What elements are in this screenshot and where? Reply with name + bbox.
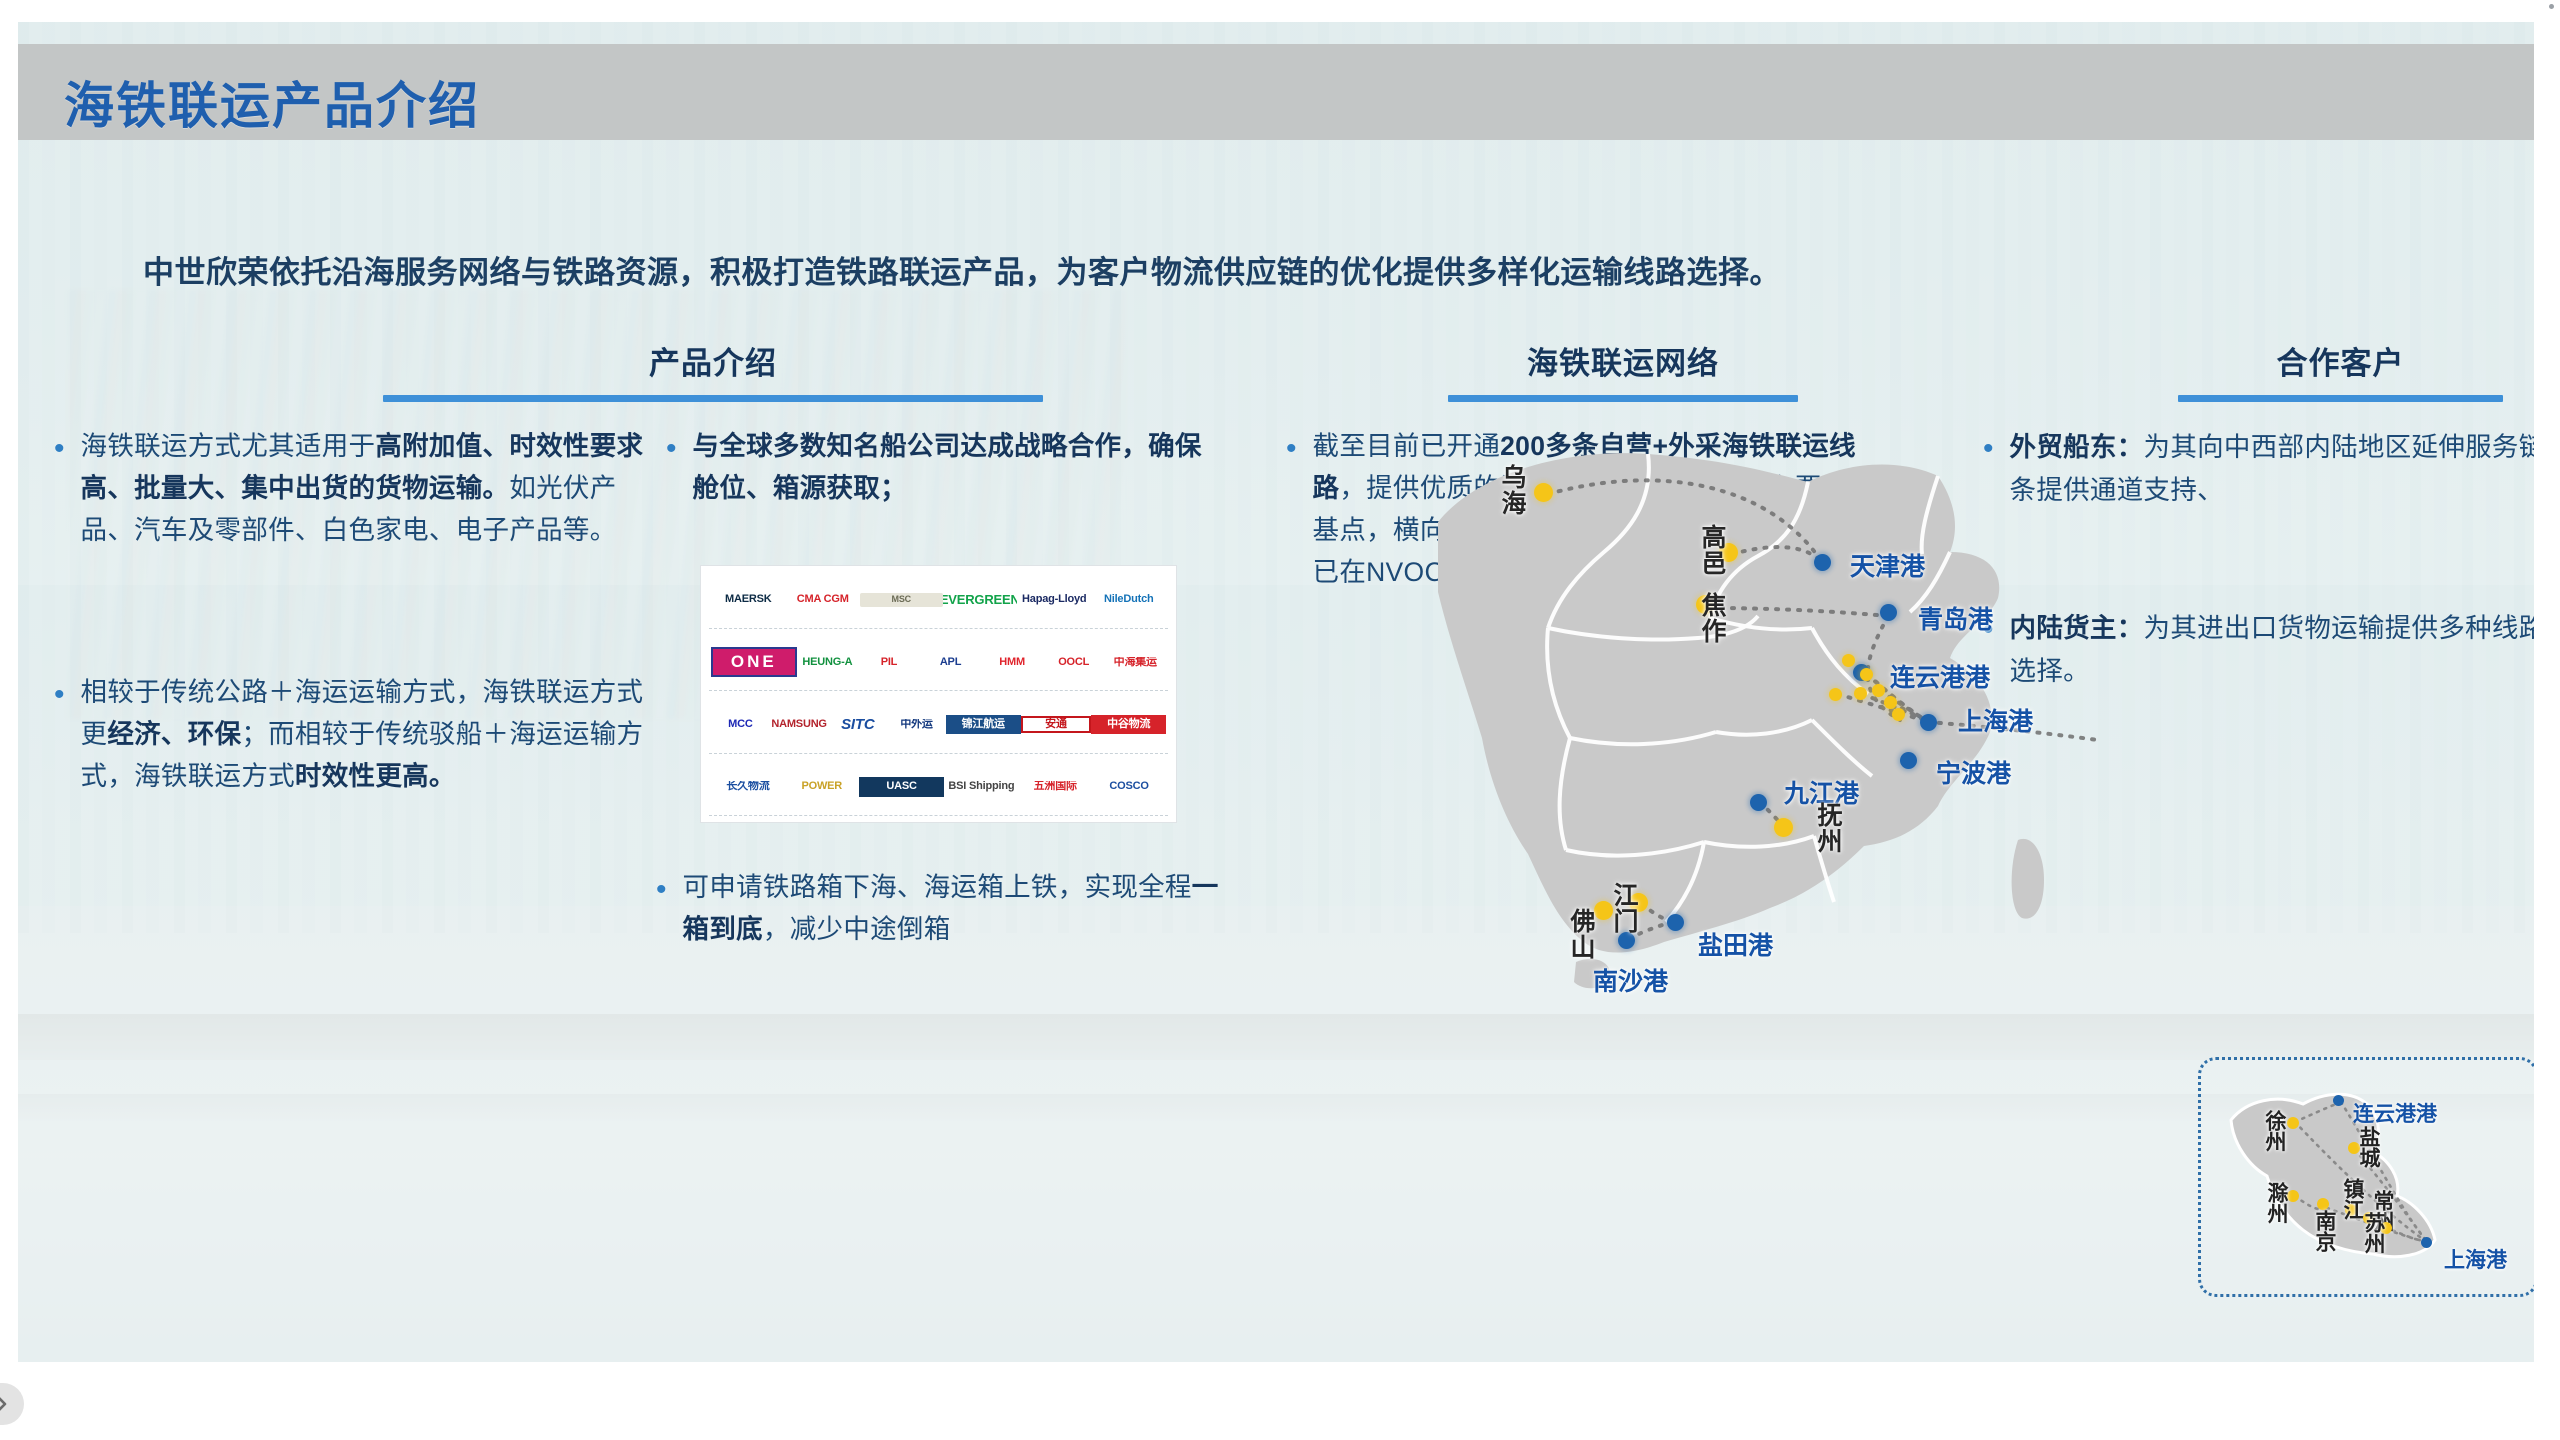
slide-viewer: 海铁联运产品介绍 中世欣荣依托沿海服务网络与铁路资源，积极打造铁路联运产品，为客… [0,0,2560,1440]
shipping-line-logo: 中外运 [887,719,946,731]
bullet-item: • 与全球多数知名船公司达成战略合作，确保舱位、箱源获取； [666,426,1226,510]
inset-inland-label: 滁州 [2261,1182,2291,1224]
map-inland-node[interactable] [1842,654,1855,667]
next-slide-button[interactable] [0,1383,24,1425]
map-inland-label: 乌海 [1494,464,1530,516]
map-inland-label: 焦作 [1694,592,1730,644]
map-inland-label: 高邑 [1694,524,1730,576]
logo-row: MAERSKCMA CGMMSCEVERGREENHapag-LloydNile… [709,572,1168,629]
bullet-item: • 海铁联运方式尤其适用于高附加值、时效性要求高、批量大、集中出货的货物运输。如… [54,426,644,552]
shipping-line-logo: NAMSUNG [770,719,829,731]
shipping-line-logo-grid: MAERSKCMA CGMMSCEVERGREENHapag-LloydNile… [700,565,1177,823]
shipping-line-logo: PIL [858,657,920,669]
shipping-line-logo: APL [920,657,982,669]
inset-inland-label: 盐城 [2353,1126,2383,1168]
map-port-label: 青岛港 [1918,600,1993,636]
map-port-node[interactable] [1618,932,1635,949]
section-heading-rule [1448,395,1798,402]
page-title: 海铁联运产品介绍 [64,66,480,138]
logo-row: MCCNAMSUNGSITC中外运锦江航运安通中谷物流 [709,697,1168,754]
slide-canvas: 海铁联运产品介绍 中世欣荣依托沿海服务网络与铁路资源，积极打造铁路联运产品，为客… [18,22,2534,1362]
shipping-line-logo: HEUNG-A [797,657,859,669]
map-port-node[interactable] [1880,604,1897,621]
bullet-dot-icon: • [666,426,677,510]
bullet-dot-icon: • [54,672,65,798]
inset-port-node[interactable] [2333,1095,2344,1106]
section-heading-label: 合作客户 [2178,338,2503,395]
bullet-item: • 可申请铁路箱下海、海运箱上铁，实现全程一箱到底，减少中途倒箱 [656,867,1226,951]
inset-inland-node[interactable] [2317,1198,2329,1210]
map-inland-node[interactable] [1872,684,1885,697]
section-heading-customers: 合作客户 [2178,338,2503,402]
shipping-line-logo: Hapag-Lloyd [1017,594,1092,606]
bullet-dot-icon: • [656,867,667,951]
inset-inland-label: 徐州 [2259,1110,2289,1152]
map-port-label: 南沙港 [1593,962,1668,998]
map-port-node[interactable] [1920,714,1937,731]
map-port-label: 上海港 [1958,702,2033,738]
shipping-line-logo: POWER [785,781,859,793]
section-heading-network: 海铁联运网络 [1448,338,1798,402]
map-inland-node[interactable] [1854,687,1867,700]
shipping-line-logo: OOCL [1043,657,1105,669]
map-inland-node[interactable] [1860,668,1873,681]
bullet-dot-icon: • [1286,426,1297,593]
shipping-line-logo: BSI Shipping [944,781,1018,793]
inset-port-label: 连云港港 [2353,1098,2437,1128]
map-port-label: 连云港港 [1890,658,1990,694]
map-inland-label: 抚州 [1810,802,1846,854]
inset-inland-label: 苏州 [2358,1212,2388,1254]
shipping-line-logo: 长久物流 [711,781,785,793]
shipping-line-logo: EVERGREEN [943,593,1018,607]
logo-row: ONEHEUNG-APILAPLHMMOOCL中海集运 [709,634,1168,691]
shipping-line-logo: NileDutch [1092,594,1167,606]
corner-dot [2549,4,2554,9]
shipping-line-logo: CMA CGM [786,594,861,606]
map-inland-node[interactable] [1884,696,1897,709]
map-port-label: 盐田港 [1698,926,1773,962]
bullet-text: 海铁联运方式尤其适用于高附加值、时效性要求高、批量大、集中出货的货物运输。如光伏… [81,426,644,552]
bullet-text: 与全球多数知名船公司达成战略合作，确保舱位、箱源获取； [693,426,1226,510]
section-heading-label: 海铁联运网络 [1448,338,1798,395]
shipping-line-logo: UASC [859,777,945,797]
chevron-right-icon [0,1395,11,1413]
shipping-line-logo: ONE [711,647,797,677]
section-heading-product-intro: 产品介绍 [383,338,1043,402]
bullet-text: 可申请铁路箱下海、海运箱上铁，实现全程一箱到底，减少中途倒箱 [683,867,1226,951]
shipping-line-logo: 五洲国际 [1018,781,1092,793]
shipping-line-logo: HMM [981,657,1043,669]
map-inland-label: 佛山 [1563,908,1599,960]
section-heading-label: 产品介绍 [383,338,1043,395]
map-inland-node[interactable] [1774,818,1793,837]
bullet-item: • 相较于传统公路＋海运运输方式，海铁联运方式更经济、环保；而相较于传统驳船＋海… [54,672,644,798]
map-port-label: 宁波港 [1936,754,2011,790]
section-heading-rule [2178,395,2503,402]
shipping-line-logo: MAERSK [711,594,786,606]
map-inland-node[interactable] [1892,708,1905,721]
logo-row: 长久物流POWERUASCBSI Shipping五洲国际COSCO [709,759,1168,816]
slide-subtitle: 中世欣荣依托沿海服务网络与铁路资源，积极打造铁路联运产品，为客户物流供应链的优化… [143,247,2393,292]
inset-port-label: 上海港 [2444,1244,2507,1274]
shipping-line-logo: MCC [711,719,770,731]
map-port-label: 天津港 [1850,547,1925,583]
shipping-line-logo: MSC [860,593,943,606]
shipping-line-logo: 锦江航运 [946,715,1021,735]
inset-port-node[interactable] [2421,1237,2432,1248]
shipping-line-logo: SITC [828,717,887,733]
map-port-node[interactable] [1667,914,1684,931]
shipping-line-logo: 安通 [1021,716,1092,734]
map-inland-node[interactable] [1534,483,1553,502]
section-heading-rule [383,395,1043,402]
yangtze-delta-inset-map: 连云港港上海港徐州盐城滁州南京镇江常州苏州 [2198,1057,2534,1297]
map-port-node[interactable] [1900,752,1917,769]
shipping-line-logo: 中海集运 [1104,657,1166,669]
bullet-dot-icon: • [54,426,65,552]
bullet-text: 相较于传统公路＋海运运输方式，海铁联运方式更经济、环保；而相较于传统驳船＋海运运… [81,672,644,798]
map-port-node[interactable] [1814,554,1831,571]
map-inland-node[interactable] [1829,688,1842,701]
shipping-line-logo: 中谷物流 [1091,715,1166,735]
map-port-node[interactable] [1750,794,1767,811]
inset-inland-label: 南京 [2309,1210,2339,1252]
shipping-line-logo: COSCO [1092,781,1166,793]
